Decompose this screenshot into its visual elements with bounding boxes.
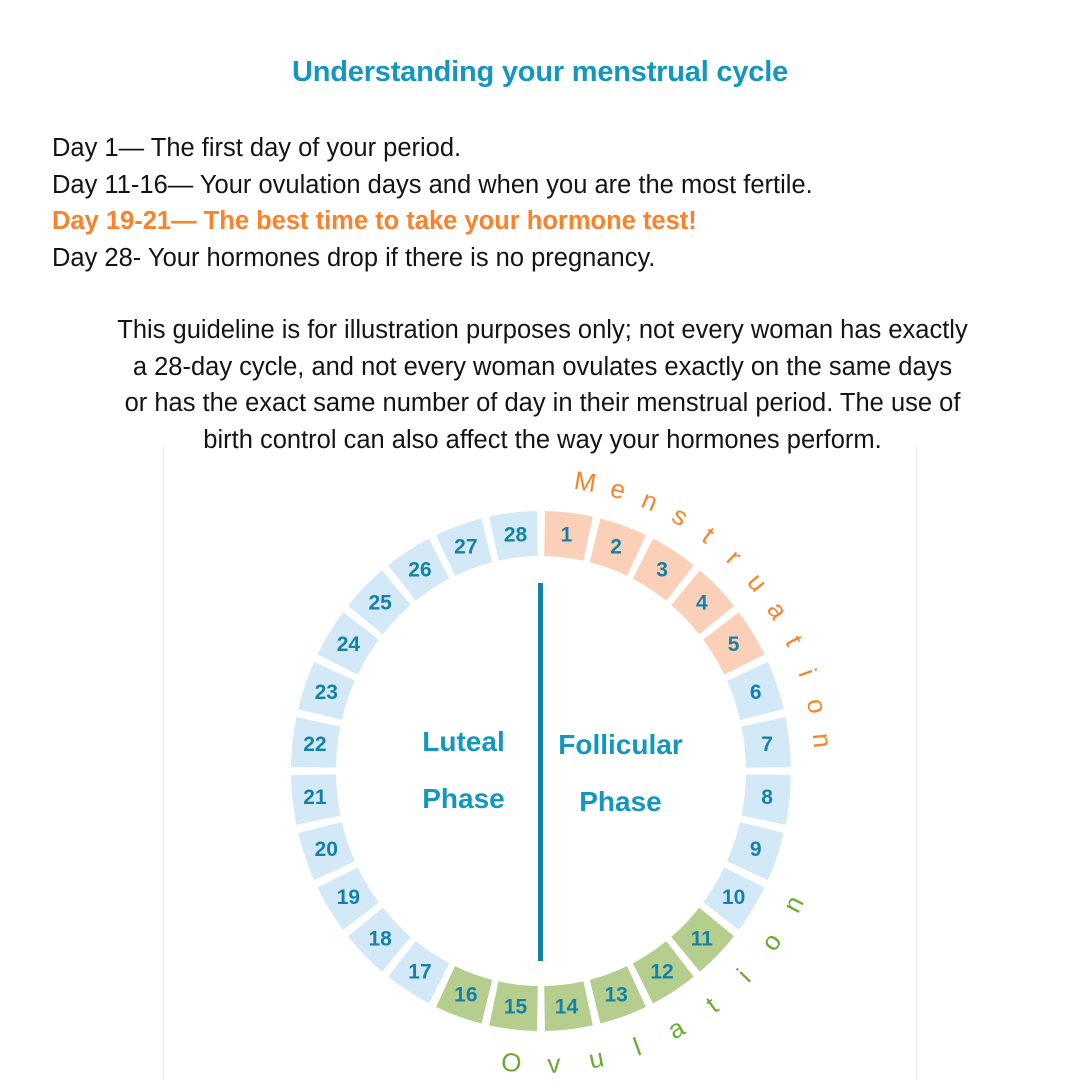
cycle-day-number-1: 1 [561, 523, 573, 546]
cycle-day-number-27: 27 [454, 535, 477, 558]
cycle-day-number-10: 10 [722, 886, 745, 909]
page-root: Understanding your menstrual cycle Day 1… [0, 0, 1080, 1080]
menstruation-arc-label-char: n [637, 484, 662, 517]
cycle-day-number-17: 17 [408, 961, 431, 984]
cycle-day-number-26: 26 [408, 558, 431, 581]
day-guide-item: Day 11-16— Your ovulation days and when … [52, 167, 1032, 204]
menstruation-arc-label-char: e [607, 473, 629, 506]
menstruation-arc-label-char: t [779, 631, 809, 652]
ovulation-arc-label-char: a [663, 1012, 690, 1046]
menstruation-arc-label-char: a [761, 596, 794, 625]
page-title: Understanding your menstrual cycle [0, 56, 1080, 89]
day-guide-list: Day 1— The first day of your period. Day… [52, 130, 1032, 276]
cycle-day-number-25: 25 [368, 592, 392, 615]
menstruation-arc-label-char: s [667, 500, 693, 533]
disclaimer-paragraph: This guideline is for illustration purpo… [50, 312, 1035, 458]
menstruation-arc-label-char: u [741, 567, 773, 597]
ovulation-arc-label-char: v [547, 1048, 561, 1079]
luteal-phase-line1: Luteal [381, 713, 546, 770]
ovulation-arc-label-char: n [777, 891, 810, 918]
menstruation-arc-label-char: o [801, 696, 833, 717]
cycle-day-number-7: 7 [761, 733, 773, 756]
cycle-day-number-11: 11 [691, 927, 714, 950]
ovulation-arc-label-char: o [755, 927, 788, 956]
follicular-phase-label: Follicular Phase [538, 716, 703, 830]
disclaimer-line: This guideline is for illustration purpo… [50, 312, 1035, 349]
menstruation-arc-label-char: i [792, 665, 822, 681]
follicular-phase-line2: Phase [538, 773, 703, 830]
day-guide-item: Day 1— The first day of your period. [52, 130, 1032, 167]
phase-divider-line [538, 583, 543, 961]
day-guide-item: Day 28- Your hormones drop if there is n… [52, 240, 1032, 277]
day-guide-item-highlight: Day 19-21— The best time to take your ho… [52, 203, 1032, 240]
ovulation-arc-label-char: i [731, 963, 757, 988]
ovulation-arc-label-char: O [500, 1046, 523, 1078]
ovulation-arc-label-char: u [586, 1042, 606, 1074]
cycle-day-number-18: 18 [368, 927, 392, 950]
cycle-day-number-2: 2 [610, 535, 622, 558]
menstruation-arc-label-char: n [807, 732, 838, 750]
cycle-day-number-15: 15 [504, 996, 528, 1019]
cycle-day-number-6: 6 [750, 681, 762, 704]
cycle-day-number-12: 12 [650, 961, 673, 984]
cycle-day-number-16: 16 [454, 984, 477, 1007]
cycle-day-number-23: 23 [315, 681, 338, 704]
follicular-phase-line1: Follicular [538, 716, 703, 773]
cycle-day-number-9: 9 [750, 838, 762, 861]
cycle-day-number-19: 19 [337, 886, 360, 909]
luteal-phase-line2: Phase [381, 770, 546, 827]
cycle-day-number-13: 13 [604, 984, 627, 1007]
cycle-day-number-5: 5 [728, 633, 740, 656]
menstruation-arc-label-char: M [572, 465, 598, 498]
menstruation-arc-label-char: t [697, 521, 721, 550]
cycle-day-number-4: 4 [696, 592, 708, 615]
cycle-day-number-28: 28 [504, 523, 528, 546]
disclaimer-line: a 28-day cycle, and not every woman ovul… [50, 349, 1035, 386]
cycle-day-number-22: 22 [303, 733, 326, 756]
ovulation-arc-label-char: l [629, 1031, 645, 1061]
cycle-day-number-14: 14 [555, 996, 579, 1019]
cycle-day-number-8: 8 [761, 786, 773, 809]
ovulation-arc-label-char: t [700, 990, 724, 1019]
cycle-day-number-21: 21 [303, 786, 327, 809]
cycle-day-number-24: 24 [337, 633, 361, 656]
cycle-day-number-20: 20 [315, 838, 338, 861]
luteal-phase-label: Luteal Phase [381, 713, 546, 827]
cycle-day-number-3: 3 [656, 558, 668, 581]
menstruation-arc-label-char: r [721, 543, 748, 571]
disclaimer-line: or has the exact same number of day in t… [50, 385, 1035, 422]
